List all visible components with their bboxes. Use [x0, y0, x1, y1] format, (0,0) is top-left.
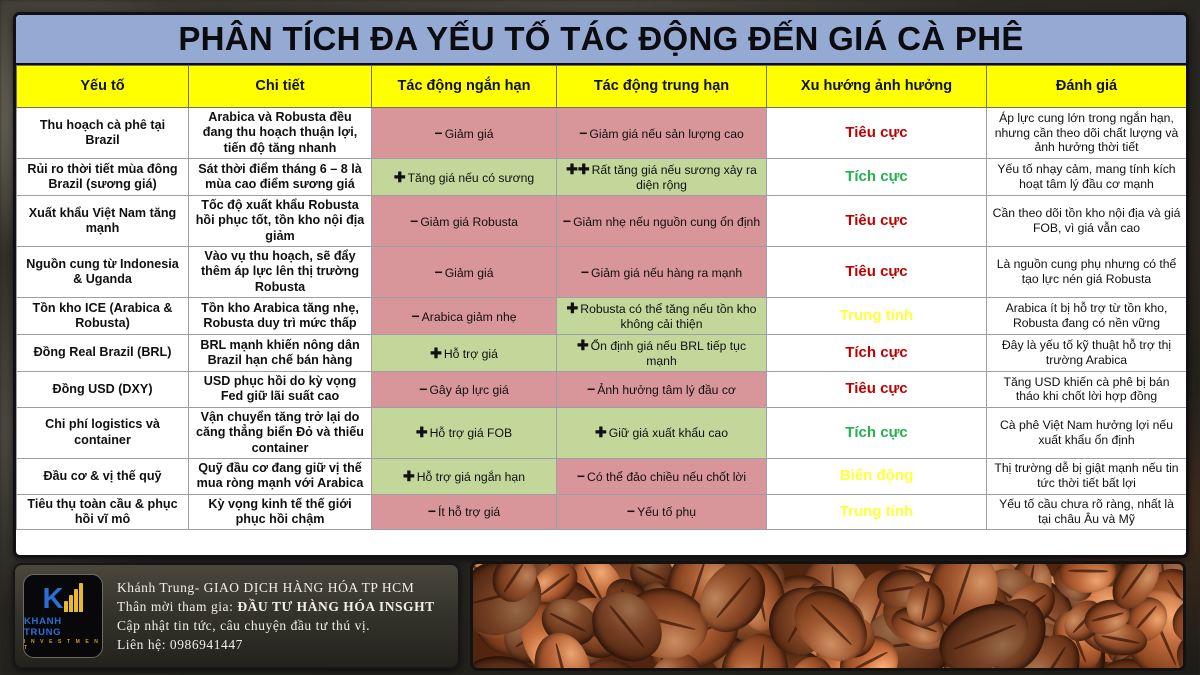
- trend-label: Biến động: [840, 467, 913, 484]
- logo-subtitle: I N V E S T M E N T: [24, 639, 102, 651]
- impact-sign: −: [435, 264, 443, 280]
- coffee-bean: [1132, 670, 1186, 671]
- cell-note: Tăng USD khiến cà phê bị bán tháo khi ch…: [987, 372, 1187, 408]
- logo-bar-1: [64, 601, 68, 612]
- cell-detail: Sát thời điểm tháng 6 – 8 là mùa cao điể…: [189, 159, 372, 196]
- trend-label: Tiêu cực: [845, 212, 907, 229]
- cell-factor: Đồng USD (DXY): [17, 372, 189, 408]
- cell-mid-term-impact: ✚Ổn định giá nếu BRL tiếp tục mạnh: [557, 335, 767, 372]
- column-header-note: Đánh giá: [987, 66, 1187, 108]
- impact-sign: −: [419, 381, 427, 397]
- cell-note: Cần theo dõi tồn kho nội địa và giá FOB,…: [987, 196, 1187, 247]
- cell-short-term-impact: −Arabica giảm nhẹ: [372, 298, 557, 335]
- cell-note: Cà phê Việt Nam hưởng lợi nếu xuất khẩu …: [987, 407, 1187, 458]
- logo-name: KHANH TRUNG: [24, 616, 102, 638]
- coffee-bean-crease: [658, 669, 694, 671]
- cell-mid-term-impact: −Giảm nhẹ nếu nguồn cung ổn định: [557, 196, 767, 247]
- logo-bar-2: [69, 595, 73, 612]
- impact-sign: ✚: [595, 424, 607, 440]
- cell-trend: Trung tính: [767, 494, 987, 530]
- cell-short-term-impact: −Giảm giá: [372, 108, 557, 159]
- cell-note: Arabica ít bị hỗ trợ từ tồn kho, Robusta…: [987, 298, 1187, 335]
- cell-short-term-impact: −Giảm giá: [372, 247, 557, 298]
- cell-detail: Vận chuyển tăng trở lại do căng thẳng bi…: [189, 407, 372, 458]
- cell-factor: Tiêu thụ toàn cầu & phục hồi vĩ mô: [17, 494, 189, 530]
- coffee-bean: [480, 668, 523, 671]
- cell-trend: Tiêu cực: [767, 372, 987, 408]
- cell-detail: Tốc độ xuất khẩu Robusta hồi phục tốt, t…: [189, 196, 372, 247]
- cell-trend: Biến động: [767, 458, 987, 494]
- footer-branding-bar: K KHANH TRUNG I N V E S T M E N T Khánh …: [13, 563, 460, 669]
- coffee-bean-crease: [1185, 613, 1186, 623]
- cell-trend: Trung tính: [767, 298, 987, 335]
- cell-note: Yếu tố nhạy cảm, mang tính kích hoạt tâm…: [987, 159, 1187, 196]
- brand-line-contact: Liên hệ: 0986941447: [117, 637, 450, 653]
- cell-factor: Tồn kho ICE (Arabica & Robusta): [17, 298, 189, 335]
- cell-detail: Kỳ vọng kinh tế thế giới phục hồi chậm: [189, 494, 372, 530]
- impact-sign: ✚: [403, 468, 415, 484]
- impact-sign: −: [435, 125, 443, 141]
- impact-sign: −: [410, 213, 418, 229]
- cell-note: Yếu tố cầu chưa rõ ràng, nhất là tại châ…: [987, 494, 1187, 530]
- cell-note: Là nguồn cung phụ nhưng có thể tạo lực n…: [987, 247, 1187, 298]
- table-row: Đồng Real Brazil (BRL)BRL mạnh khiến nôn…: [17, 335, 1187, 372]
- table-row: Chi phí logistics và containerVận chuyển…: [17, 407, 1187, 458]
- impact-sign: −: [627, 503, 635, 519]
- title-bar: PHÂN TÍCH ĐA YẾU TỐ TÁC ĐỘNG ĐẾN GIÁ CÀ …: [16, 15, 1186, 65]
- cell-note: Áp lực cung lớn trong ngắn hạn, nhưng cầ…: [987, 108, 1187, 159]
- coffee-bean-crease: [1185, 628, 1186, 666]
- cell-mid-term-impact: −Giảm giá nếu hàng ra mạnh: [557, 247, 767, 298]
- analysis-table-card: PHÂN TÍCH ĐA YẾU TỐ TÁC ĐỘNG ĐẾN GIÁ CÀ …: [13, 12, 1189, 558]
- cell-trend: Tích cực: [767, 407, 987, 458]
- brand-line-company: Khánh Trung- GIAO DỊCH HÀNG HÓA TP HCM: [117, 580, 450, 596]
- table-row: Rủi ro thời tiết mùa đông Brazil (sương …: [17, 159, 1187, 196]
- table-row: Đầu cơ & vị thế quỹQuỹ đầu cơ đang giữ v…: [17, 458, 1187, 494]
- cell-factor: Đồng Real Brazil (BRL): [17, 335, 189, 372]
- cell-trend: Tiêu cực: [767, 247, 987, 298]
- cell-factor: Chi phí logistics và container: [17, 407, 189, 458]
- column-header-detail: Chi tiết: [189, 66, 372, 108]
- table-row: Nguồn cung từ Indonesia & UgandaVào vụ t…: [17, 247, 1187, 298]
- cell-short-term-impact: −Gây áp lực giá: [372, 372, 557, 408]
- column-header-short: Tác động ngắn hạn: [372, 66, 557, 108]
- cell-mid-term-impact: −Yếu tố phụ: [557, 494, 767, 530]
- brand-text-block: Khánh Trung- GIAO DỊCH HÀNG HÓA TP HCM T…: [103, 580, 450, 653]
- table-row: Xuất khẩu Việt Nam tăng mạnhTốc độ xuất …: [17, 196, 1187, 247]
- impact-sign: −: [587, 381, 595, 397]
- cell-mid-term-impact: ✚Giữ giá xuất khẩu cao: [557, 407, 767, 458]
- cell-detail: Arabica và Robusta đều đang thu hoạch th…: [189, 108, 372, 159]
- cell-short-term-impact: ✚Hỗ trợ giá ngắn hạn: [372, 458, 557, 494]
- cell-short-term-impact: ✚Hỗ trợ giá FOB: [372, 407, 557, 458]
- cell-short-term-impact: −Ít hỗ trợ giá: [372, 494, 557, 530]
- factor-analysis-table: Yếu tố Chi tiết Tác động ngắn hạn Tác độ…: [16, 65, 1187, 530]
- cell-note: Đây là yếu tố kỹ thuật hỗ trợ thị trường…: [987, 335, 1187, 372]
- coffee-bean-crease: [1068, 569, 1108, 572]
- cell-short-term-impact: ✚Hỗ trợ giá: [372, 335, 557, 372]
- cell-trend: Tích cực: [767, 335, 987, 372]
- impact-sign: ✚✚: [566, 161, 589, 177]
- impact-sign: ✚: [394, 169, 406, 185]
- impact-sign: −: [579, 125, 587, 141]
- impact-sign: −: [581, 264, 589, 280]
- cell-mid-term-impact: ✚Robusta có thể tăng nếu tồn kho không c…: [557, 298, 767, 335]
- trend-label: Tích cực: [845, 344, 908, 361]
- cell-short-term-impact: −Giảm giá Robusta: [372, 196, 557, 247]
- coffee-beans-photo: [470, 561, 1186, 671]
- cell-mid-term-impact: −Giảm giá nếu sản lượng cao: [557, 108, 767, 159]
- table-header-row: Yếu tố Chi tiết Tác động ngắn hạn Tác độ…: [17, 66, 1187, 108]
- impact-sign: −: [563, 213, 571, 229]
- cell-detail: USD phục hồi do kỳ vọng Fed giữ lãi suất…: [189, 372, 372, 408]
- trend-label: Tiêu cực: [845, 380, 907, 397]
- page-title: PHÂN TÍCH ĐA YẾU TỐ TÁC ĐỘNG ĐẾN GIÁ CÀ …: [178, 20, 1023, 58]
- brand-line-tagline: Cập nhật tin tức, câu chuyện đầu tư thú …: [117, 618, 450, 634]
- table-body: Thu hoạch cà phê tại BrazilArabica và Ro…: [17, 108, 1187, 530]
- cell-detail: Quỹ đầu cơ đang giữ vị thế mua ròng mạnh…: [189, 458, 372, 494]
- cell-detail: BRL mạnh khiến nông dân Brazil hạn chế b…: [189, 335, 372, 372]
- cell-factor: Thu hoạch cà phê tại Brazil: [17, 108, 189, 159]
- table-row: Thu hoạch cà phê tại BrazilArabica và Ro…: [17, 108, 1187, 159]
- column-header-trend: Xu hướng ảnh hưởng: [767, 66, 987, 108]
- logo-bar-4: [79, 583, 83, 612]
- column-header-mid: Tác động trung hạn: [557, 66, 767, 108]
- impact-sign: ✚: [430, 345, 442, 361]
- impact-sign: −: [428, 503, 436, 519]
- cell-mid-term-impact: −Ảnh hưởng tâm lý đầu cơ: [557, 372, 767, 408]
- cell-trend: Tích cực: [767, 159, 987, 196]
- trend-label: Tích cực: [845, 168, 908, 185]
- impact-sign: −: [411, 308, 419, 324]
- brand-invite-channel: ĐẦU TƯ HÀNG HÓA INSGHT: [237, 599, 434, 614]
- coffee-bean-crease: [1109, 669, 1163, 671]
- logo-bar-3: [74, 589, 78, 612]
- brand-logo: K KHANH TRUNG I N V E S T M E N T: [23, 574, 103, 658]
- cell-short-term-impact: ✚Tăng giá nếu có sương: [372, 159, 557, 196]
- brand-line-invite: Thân mời tham gia: ĐẦU TƯ HÀNG HÓA INSGH…: [117, 599, 450, 615]
- cell-factor: Nguồn cung từ Indonesia & Uganda: [17, 247, 189, 298]
- cell-detail: Tồn kho Arabica tăng nhẹ, Robusta duy tr…: [189, 298, 372, 335]
- table-row: Đồng USD (DXY)USD phục hồi do kỳ vọng Fe…: [17, 372, 1187, 408]
- cell-mid-term-impact: −Có thể đảo chiều nếu chốt lời: [557, 458, 767, 494]
- brand-invite-prefix: Thân mời tham gia:: [117, 599, 237, 614]
- table-row: Tiêu thụ toàn cầu & phục hồi vĩ môKỳ vọn…: [17, 494, 1187, 530]
- trend-label: Tiêu cực: [845, 124, 907, 141]
- logo-letter: K: [43, 586, 64, 612]
- cell-trend: Tiêu cực: [767, 196, 987, 247]
- column-header-factor: Yếu tố: [17, 66, 189, 108]
- impact-sign: ✚: [577, 337, 589, 353]
- cell-note: Thị trường dễ bị giật mạnh nếu tin tức t…: [987, 458, 1187, 494]
- logo-chart-icon: K: [43, 582, 84, 612]
- trend-label: Trung tính: [840, 307, 913, 324]
- cell-detail: Vào vụ thu hoạch, sẽ đẩy thêm áp lực lên…: [189, 247, 372, 298]
- cell-factor: Rủi ro thời tiết mùa đông Brazil (sương …: [17, 159, 189, 196]
- trend-label: Trung tính: [840, 503, 913, 520]
- trend-label: Tiêu cực: [845, 263, 907, 280]
- impact-sign: −: [577, 468, 585, 484]
- impact-sign: ✚: [416, 424, 428, 440]
- coffee-bean: [730, 668, 801, 671]
- cell-mid-term-impact: ✚✚Rất tăng giá nếu sương xảy ra diện rộn…: [557, 159, 767, 196]
- cell-factor: Đầu cơ & vị thế quỹ: [17, 458, 189, 494]
- cell-factor: Xuất khẩu Việt Nam tăng mạnh: [17, 196, 189, 247]
- table-row: Tồn kho ICE (Arabica & Robusta)Tồn kho A…: [17, 298, 1187, 335]
- cell-trend: Tiêu cực: [767, 108, 987, 159]
- trend-label: Tích cực: [845, 424, 908, 441]
- impact-sign: ✚: [567, 300, 579, 316]
